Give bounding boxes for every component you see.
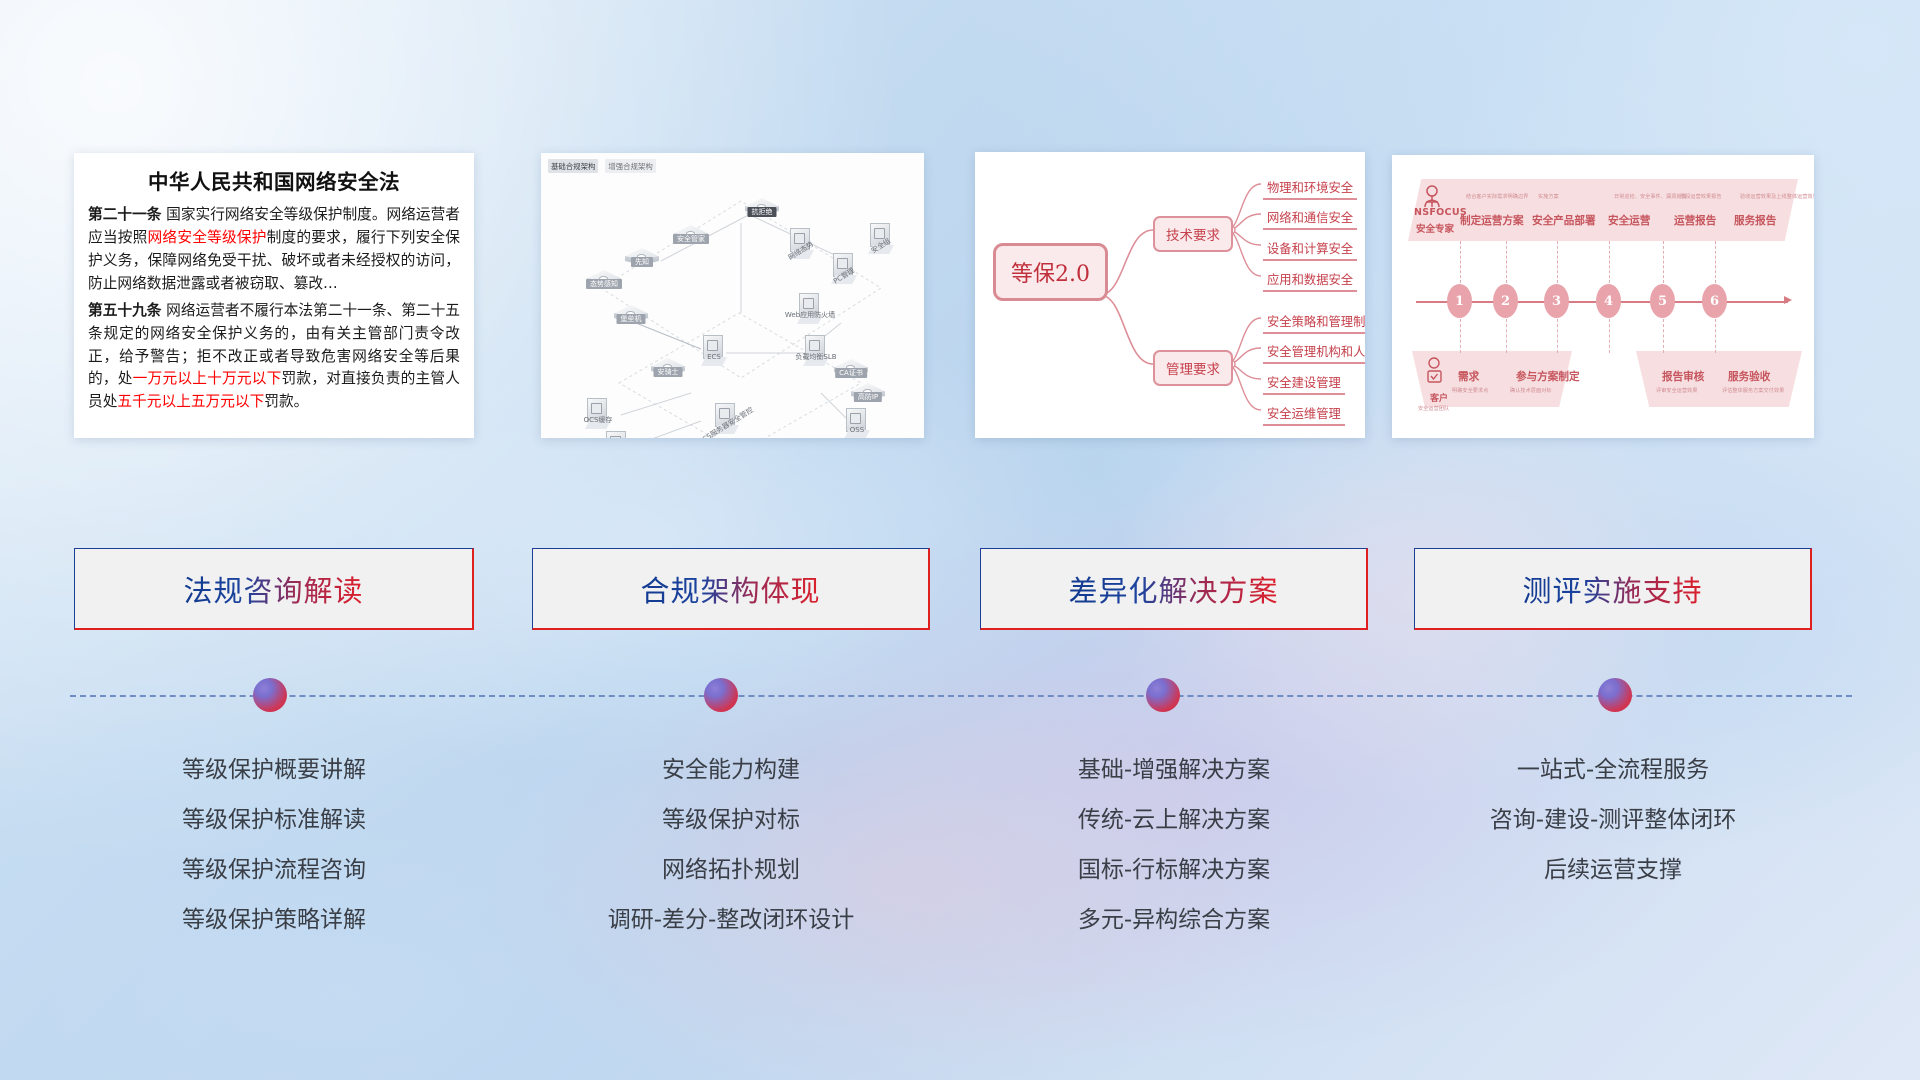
service-list-item: 安全能力构建	[532, 745, 930, 795]
arch-node: 高防IP	[851, 383, 885, 405]
service-list-item: 等级保护概要讲解	[74, 745, 474, 795]
service-list-item: 等级保护标准解读	[74, 795, 474, 845]
mindmap-leaf: 安全建设管理	[1263, 373, 1345, 395]
mindmap-core: 等保2.0	[993, 243, 1108, 301]
flow-bottom-brand-sub: 安全运营团队	[1418, 405, 1449, 412]
service-list-item: 一站式-全流程服务	[1414, 745, 1812, 795]
flow-step-number: 6	[1702, 284, 1727, 318]
law-article-label: 第五十九条	[88, 302, 161, 319]
service-title-label: 法规咨询解读	[183, 568, 363, 610]
timeline-dot-2[interactable]	[704, 678, 738, 712]
flow-bottom-step-sub: 明确安全要求点	[1452, 387, 1488, 394]
service-list-item: 多元-异构综合方案	[980, 895, 1368, 945]
flow-tick	[1557, 319, 1558, 353]
service-list-item: 等级保护流程咨询	[74, 845, 474, 895]
arch-node: ECS服务器安全管控	[713, 403, 739, 433]
flow-step-number: 3	[1544, 284, 1569, 318]
service-title-box-3[interactable]: 差异化解决方案	[980, 548, 1368, 630]
service-list-item: 咨询-建设-测评整体闭环	[1414, 795, 1812, 845]
service-title-box-4[interactable]: 测评实施支持	[1414, 548, 1812, 630]
service-list-2: 安全能力构建等级保护对标网络拓扑规划调研-差分-整改闭环设计	[532, 745, 930, 945]
flow-tick	[1715, 241, 1716, 283]
arch-node-label: OCS缓存	[580, 415, 617, 425]
law-title: 中华人民共和国网络安全法	[88, 165, 460, 195]
flow-step-number: 2	[1493, 284, 1518, 318]
law-highlight-text: 网络安全等级保护	[148, 229, 267, 246]
card-cloud-architecture: 基础合规架构 增强合规架构 抗拒绝安全管家先知态势感知堡垒机安骑士OCS缓存RD…	[541, 153, 924, 438]
flow-bottom-step-main: 报告审核	[1662, 369, 1704, 384]
flow-tick	[1715, 319, 1716, 353]
mindmap-branch: 技术要求	[1153, 216, 1233, 252]
flow-step-main: 安全产品部署	[1532, 213, 1596, 228]
flow-tick	[1506, 319, 1507, 353]
law-highlight-text: 五千元以上五万元以下	[117, 393, 264, 410]
arch-node: RDS数据库	[604, 431, 630, 438]
arch-node: 安全管家	[674, 225, 708, 247]
flow-bottom-step-main: 服务验收	[1728, 369, 1770, 384]
arch-node-label: 抗拒绝	[748, 207, 777, 217]
service-title-box-1[interactable]: 法规咨询解读	[74, 548, 474, 630]
flow-step-sub: 实施方案	[1538, 193, 1559, 200]
flow-tick	[1609, 319, 1610, 353]
arch-node-label: CA证书	[835, 368, 867, 378]
law-paragraph: 第五十九条 网络运营者不履行本法第二十一条、第二十五条规定的网络安全保护义务的，…	[88, 300, 460, 415]
card-service-flow: NSFOCUS 安全专家 结合客户实际需求明确边界制定运营方案实施方案安全产品部…	[1392, 155, 1814, 438]
mindmap-leaf: 设备和计算安全	[1263, 239, 1357, 261]
arch-node-label: 堡垒机	[617, 314, 646, 324]
arch-node: 抗拒绝	[745, 198, 779, 220]
arch-node: 先知	[625, 248, 659, 270]
card-mindmap: 等保2.0 技术要求物理和环境安全网络和通信安全设备和计算安全应用和数据安全管理…	[975, 152, 1365, 438]
mindmap-branch: 管理要求	[1153, 350, 1233, 386]
arch-node: CA证书	[834, 359, 868, 381]
flow-axis-arrow	[1784, 296, 1792, 304]
service-title-label: 差异化解决方案	[1068, 568, 1278, 610]
arch-node-label: ECS	[703, 352, 725, 362]
arch-node-label: 先知	[631, 257, 653, 267]
flow-tick	[1663, 319, 1664, 353]
service-list-item: 国标-行标解决方案	[980, 845, 1368, 895]
service-title-label: 测评实施支持	[1522, 568, 1702, 610]
timeline-dot-4[interactable]	[1598, 678, 1632, 712]
law-highlight-text: 一万元以上十万元以下	[133, 370, 282, 387]
mindmap-leaf: 安全策略和管理制度	[1263, 312, 1365, 334]
law-text: 罚款。	[264, 393, 308, 410]
timeline-dashed-line	[70, 695, 1852, 697]
arch-node: OSS	[844, 408, 870, 438]
service-list-item: 网络拓扑规划	[532, 845, 930, 895]
arch-node: 负载均衡SLB	[803, 335, 829, 365]
flow-step-main: 服务报告	[1734, 213, 1776, 228]
flow-step-number: 4	[1596, 284, 1621, 318]
timeline-dot-3[interactable]	[1146, 678, 1180, 712]
flow-tick	[1506, 241, 1507, 283]
law-article-label: 第二十一条	[88, 206, 161, 223]
arch-node: 网络态势	[788, 228, 814, 258]
mindmap-leaf: 物理和环境安全	[1263, 178, 1357, 200]
mindmap-leaf: 安全管理机构和人员	[1263, 342, 1365, 364]
flow-bottom-step-main: 需求	[1458, 369, 1479, 384]
flow-tick	[1460, 241, 1461, 283]
flow-step-number: 5	[1650, 284, 1675, 318]
arch-node: Web应用防火墙	[797, 293, 823, 323]
arch-node-label: 安全管家	[673, 234, 709, 244]
arch-node: PC管理	[831, 253, 857, 283]
flow-tick	[1609, 241, 1610, 283]
mindmap-leaf: 网络和通信安全	[1263, 208, 1357, 230]
service-list-3: 基础-增强解决方案传统-云上解决方案国标-行标解决方案多元-异构综合方案	[980, 745, 1368, 945]
flow-step-sub: 验收运营效果及上线整体运营效果	[1740, 193, 1814, 200]
arch-node: ECS	[701, 335, 727, 365]
arch-node: OCS缓存	[585, 398, 611, 428]
service-list-item: 基础-增强解决方案	[980, 745, 1368, 795]
service-list-item: 等级保护对标	[532, 795, 930, 845]
flow-step-main: 安全运营	[1608, 213, 1650, 228]
arch-node-label: 安骑士	[654, 367, 683, 377]
flow-step-number: 1	[1447, 284, 1472, 318]
flow-bottom-step-sub: 确认技术层面对标	[1510, 387, 1552, 394]
flow-tick	[1557, 241, 1558, 283]
arch-node: 堡垒机	[614, 305, 648, 327]
law-body: 第二十一条 国家实行网络安全等级保护制度。网络运营者应当按照网络安全等级保护制度…	[88, 204, 460, 414]
flow-step-main: 制定运营方案	[1460, 213, 1524, 228]
flow-bottom-brand: 客户	[1430, 391, 1448, 404]
arch-node-label: Web应用防火墙	[781, 310, 839, 320]
flow-bottom-step-sub: 评审安全运营效果	[1656, 387, 1698, 394]
arch-node: 安骑士	[651, 358, 685, 380]
service-list-4: 一站式-全流程服务咨询-建设-测评整体闭环后续运营支撑	[1414, 745, 1812, 895]
service-list-item: 传统-云上解决方案	[980, 795, 1368, 845]
flow-step-sub: 结合客户实际需求明确边界	[1466, 193, 1528, 200]
flow-bottom-step-sub: 评估整体服务方案交付效果	[1722, 387, 1784, 394]
service-list-item: 等级保护策略详解	[74, 895, 474, 945]
flow-brand-line2: 安全专家	[1416, 221, 1454, 235]
mindmap-leaf: 应用和数据安全	[1263, 270, 1357, 292]
service-list-item: 后续运营支撑	[1414, 845, 1812, 895]
law-paragraph: 第二十一条 国家实行网络安全等级保护制度。网络运营者应当按照网络安全等级保护制度…	[88, 204, 460, 296]
timeline-dot-1[interactable]	[253, 678, 287, 712]
arch-node: 安全组	[868, 223, 894, 253]
flow-step-main: 运营报告	[1674, 213, 1716, 228]
card-law-text: 中华人民共和国网络安全法 第二十一条 国家实行网络安全等级保护制度。网络运营者应…	[74, 153, 474, 438]
flow-tick	[1460, 319, 1461, 353]
arch-node-label: 态势感知	[586, 279, 622, 289]
flow-bottom-step-main: 参与方案制定	[1516, 369, 1580, 384]
flow-step-sub: 日常巡检、安全事件、漏洞处置	[1614, 193, 1687, 200]
service-list-item: 调研-差分-整改闭环设计	[532, 895, 930, 945]
service-title-label: 合规架构体现	[640, 568, 820, 610]
arch-node-label: 高防IP	[854, 392, 882, 402]
service-list-1: 等级保护概要讲解等级保护标准解读等级保护流程咨询等级保护策略详解	[74, 745, 474, 945]
flow-tick	[1663, 241, 1664, 283]
arch-node: 态势感知	[587, 270, 621, 292]
mindmap-leaf: 安全运维管理	[1263, 404, 1345, 426]
service-title-box-2[interactable]: 合规架构体现	[532, 548, 930, 630]
arch-node-label: OSS	[846, 425, 868, 435]
flow-step-sub: 阶段运营效果报告	[1680, 193, 1722, 200]
server-icon	[604, 431, 630, 438]
